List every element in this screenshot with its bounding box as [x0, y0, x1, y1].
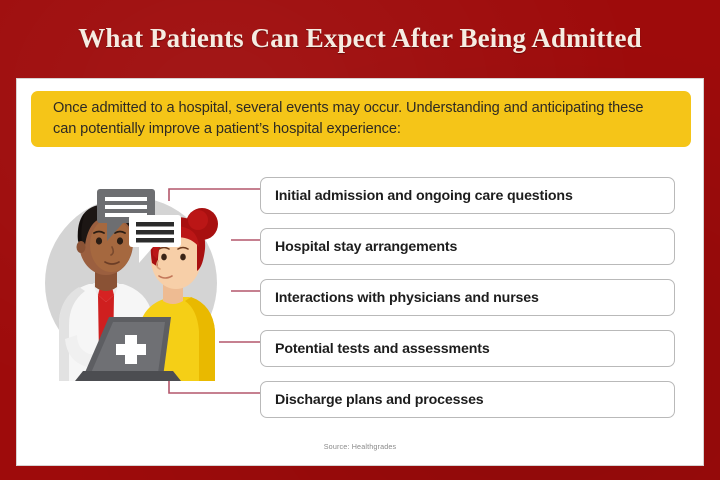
illustration-svg [31, 171, 231, 381]
source-attribution: Source: Healthgrades [17, 442, 703, 451]
list-item-label: Discharge plans and processes [275, 392, 484, 408]
intro-callout-text: Once admitted to a hospital, several eve… [53, 98, 669, 140]
content-panel: Once admitted to a hospital, several eve… [16, 78, 704, 466]
list-item[interactable]: Potential tests and assessments [260, 330, 675, 367]
intro-callout: Once admitted to a hospital, several eve… [31, 91, 691, 147]
expectations-list: Initial admission and ongoing care quest… [260, 177, 675, 432]
list-item-label: Potential tests and assessments [275, 341, 490, 357]
list-item[interactable]: Interactions with physicians and nurses [260, 279, 675, 316]
infographic-root: What Patients Can Expect After Being Adm… [0, 0, 720, 480]
list-item-label: Initial admission and ongoing care quest… [275, 188, 573, 204]
list-item-label: Interactions with physicians and nurses [275, 290, 539, 306]
list-item[interactable]: Hospital stay arrangements [260, 228, 675, 265]
doctor-and-patient-illustration [31, 171, 231, 381]
title-bar: What Patients Can Expect After Being Adm… [0, 0, 720, 76]
page-title: What Patients Can Expect After Being Adm… [78, 23, 641, 54]
list-item-label: Hospital stay arrangements [275, 239, 457, 255]
list-item[interactable]: Discharge plans and processes [260, 381, 675, 418]
connector-5 [169, 381, 265, 393]
list-item[interactable]: Initial admission and ongoing care quest… [260, 177, 675, 214]
